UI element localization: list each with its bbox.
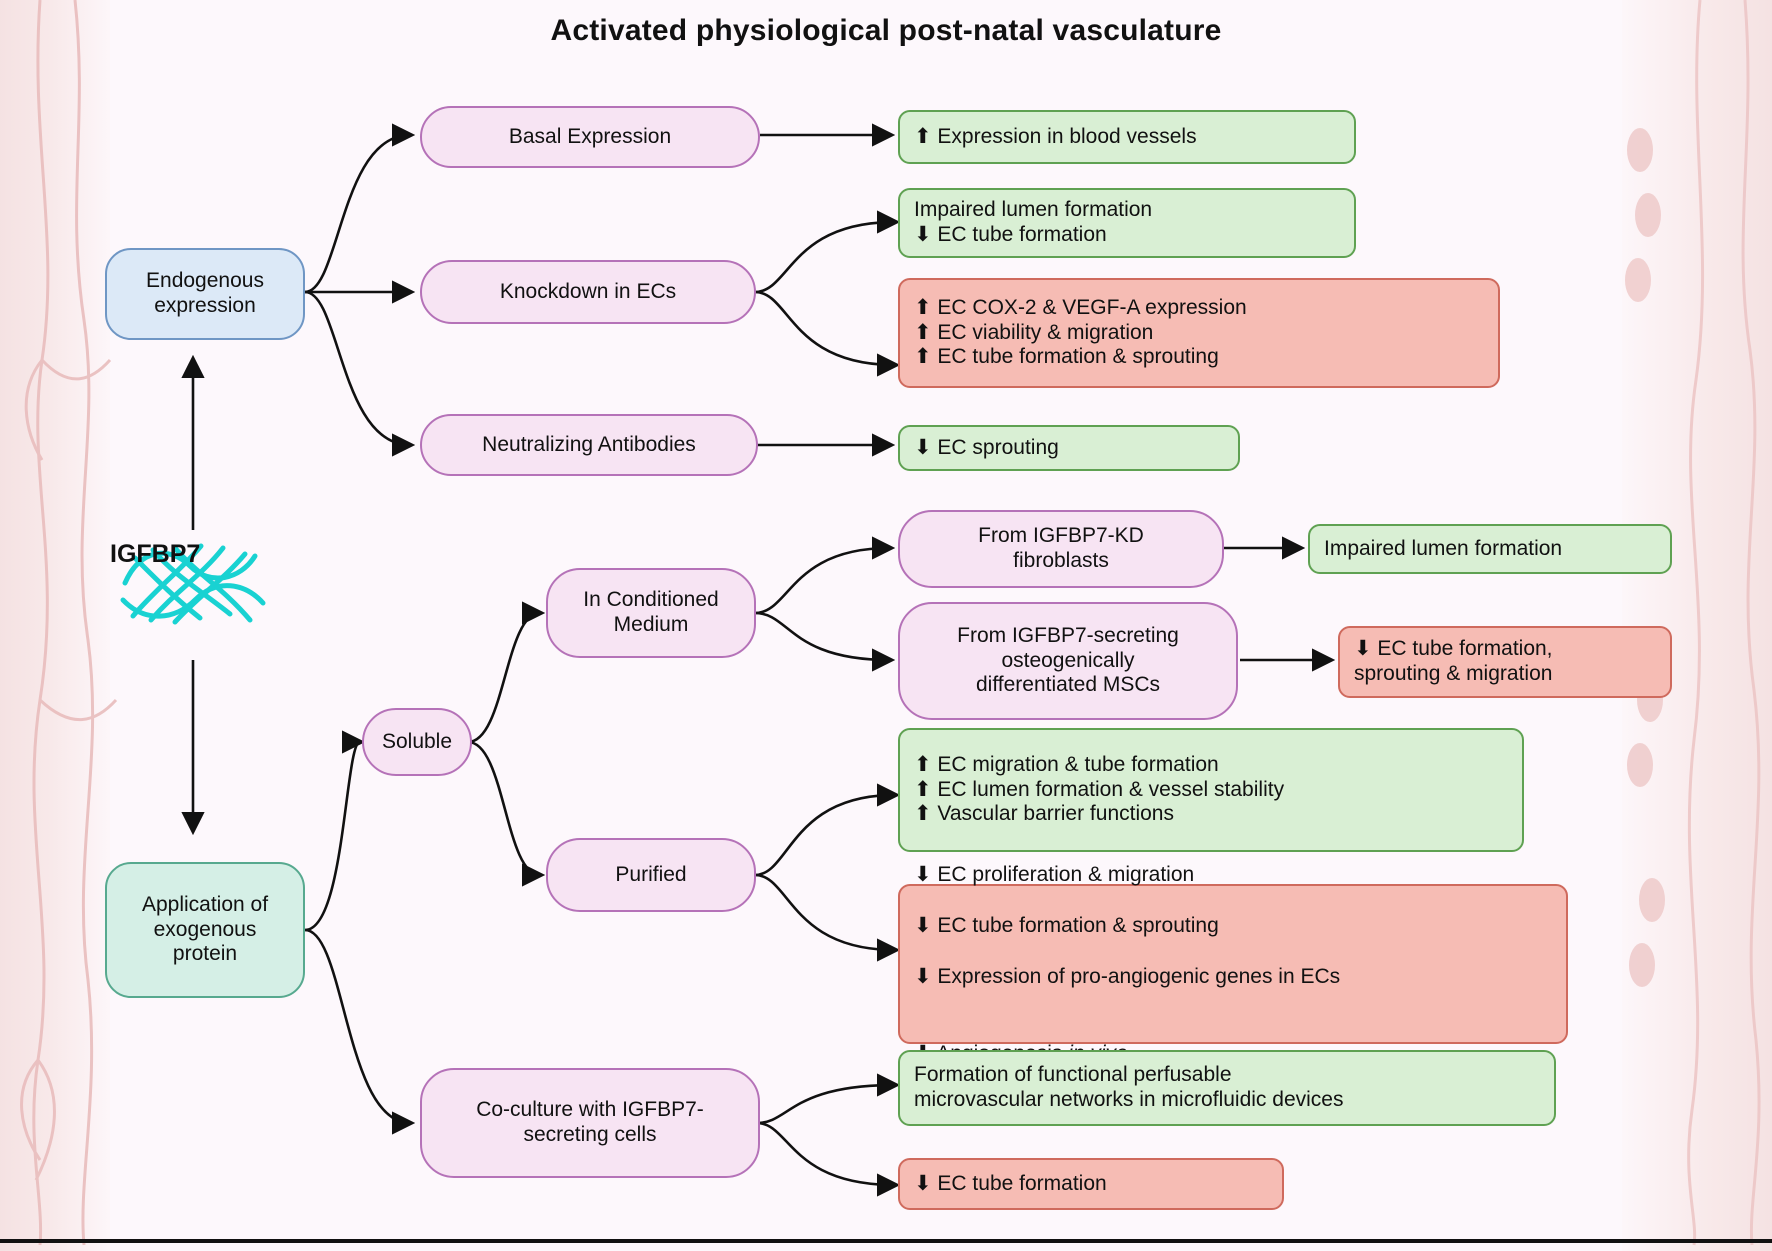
node-purified[interactable]: Purified	[546, 838, 756, 912]
outcome-knockdown-green: Impaired lumen formation ⬇ EC tube forma…	[898, 188, 1356, 258]
purified-red-line-3: ⬇ Expression of pro-angiogenic genes in …	[914, 964, 1340, 990]
node-endogenous-expression[interactable]: Endogenous expression	[105, 248, 305, 340]
node-from-kd-fibroblasts[interactable]: From IGFBP7-KD fibroblasts	[898, 510, 1224, 588]
node-basal-expression[interactable]: Basal Expression	[420, 106, 760, 168]
purified-red-line-1: ⬇ EC proliferation & migration	[914, 862, 1340, 888]
outcome-knockdown-red: ⬆ EC COX-2 & VEGF-A expression ⬆ EC viab…	[898, 278, 1500, 388]
outcome-antibodies-green: ⬇ EC sprouting	[898, 425, 1240, 471]
outcome-coculture-green: Formation of functional perfusable micro…	[898, 1050, 1556, 1126]
outcome-purified-green: ⬆ EC migration & tube formation ⬆ EC lum…	[898, 728, 1524, 852]
outcome-purified-red: ⬇ EC proliferation & migration ⬇ EC tube…	[898, 884, 1568, 1044]
outcome-cm-kd-green: Impaired lumen formation	[1308, 524, 1672, 574]
diagram-canvas: Activated physiological post-natal vascu…	[0, 0, 1772, 1251]
outcome-cm-msc-red: ⬇ EC tube formation, sprouting & migrati…	[1338, 626, 1672, 698]
node-exogenous-application[interactable]: Application of exogenous protein	[105, 862, 305, 998]
node-soluble[interactable]: Soluble	[362, 708, 472, 776]
node-neutralizing-antibodies[interactable]: Neutralizing Antibodies	[420, 414, 758, 476]
page-title: Activated physiological post-natal vascu…	[0, 14, 1772, 48]
node-coculture[interactable]: Co-culture with IGFBP7- secreting cells	[420, 1068, 760, 1178]
decorative-vessel-left	[0, 0, 110, 1251]
node-knockdown-in-ecs[interactable]: Knockdown in ECs	[420, 260, 756, 324]
node-conditioned-medium[interactable]: In Conditioned Medium	[546, 568, 756, 658]
node-from-secreting-mscs[interactable]: From IGFBP7-secreting osteogenically dif…	[898, 602, 1238, 720]
igfbp7-label: IGFBP7	[110, 540, 200, 569]
purified-red-line-2: ⬇ EC tube formation & sprouting	[914, 913, 1340, 939]
outcome-basal-green: ⬆ Expression in blood vessels	[898, 110, 1356, 164]
outcome-coculture-red: ⬇ EC tube formation	[898, 1158, 1284, 1210]
bottom-divider	[0, 1239, 1772, 1243]
